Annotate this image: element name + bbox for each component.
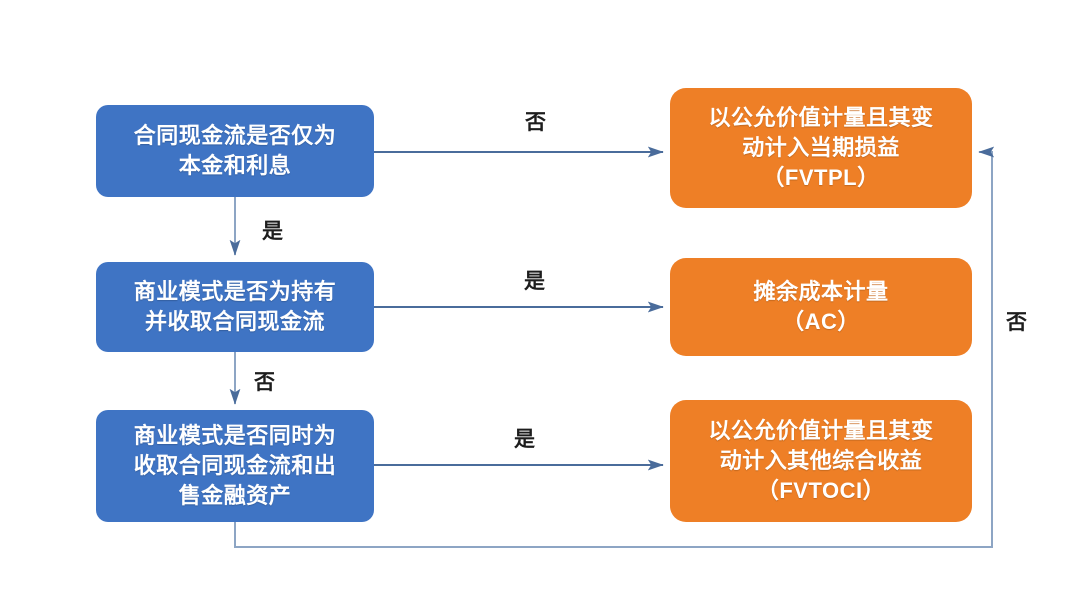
edge-label-spi-to-bm-hold: 是: [262, 221, 283, 242]
outcome-node-ac[interactable]: 摊余成本计量 （AC）: [670, 258, 972, 356]
decision-node-business-model-hold[interactable]: 商业模式是否为持有 并收取合同现金流: [96, 262, 374, 352]
node-label: 以公允价值计量且其变 动计入当期损益 （FVTPL）: [708, 103, 933, 192]
edge-label-bm-both-to-fvtpl: 否: [1006, 312, 1027, 333]
node-label: 合同现金流是否仅为 本金和利息: [134, 121, 337, 180]
outcome-node-fvtoci[interactable]: 以公允价值计量且其变 动计入其他综合收益 （FVTOCI）: [670, 400, 972, 522]
outcome-node-fvtpl[interactable]: 以公允价值计量且其变 动计入当期损益 （FVTPL）: [670, 88, 972, 208]
node-label: 商业模式是否同时为 收取合同现金流和出 售金融资产: [134, 421, 337, 510]
node-label: 商业模式是否为持有 并收取合同现金流: [134, 277, 337, 336]
flowchart-canvas: 合同现金流是否仅为 本金和利息 商业模式是否为持有 并收取合同现金流 商业模式是…: [0, 0, 1080, 608]
node-label: 以公允价值计量且其变 动计入其他综合收益 （FVTOCI）: [708, 416, 933, 505]
edge-label-spi-to-fvtpl: 否: [525, 112, 546, 133]
node-label: 摊余成本计量 （AC）: [753, 277, 888, 336]
edge-label-bm-hold-to-bm-both: 否: [254, 372, 275, 393]
decision-node-business-model-hold-and-sell[interactable]: 商业模式是否同时为 收取合同现金流和出 售金融资产: [96, 410, 374, 522]
edge-label-bm-hold-to-ac: 是: [524, 271, 545, 292]
decision-node-contractual-cash-flow[interactable]: 合同现金流是否仅为 本金和利息: [96, 105, 374, 197]
edge-label-bm-both-to-fvtoci: 是: [514, 429, 535, 450]
